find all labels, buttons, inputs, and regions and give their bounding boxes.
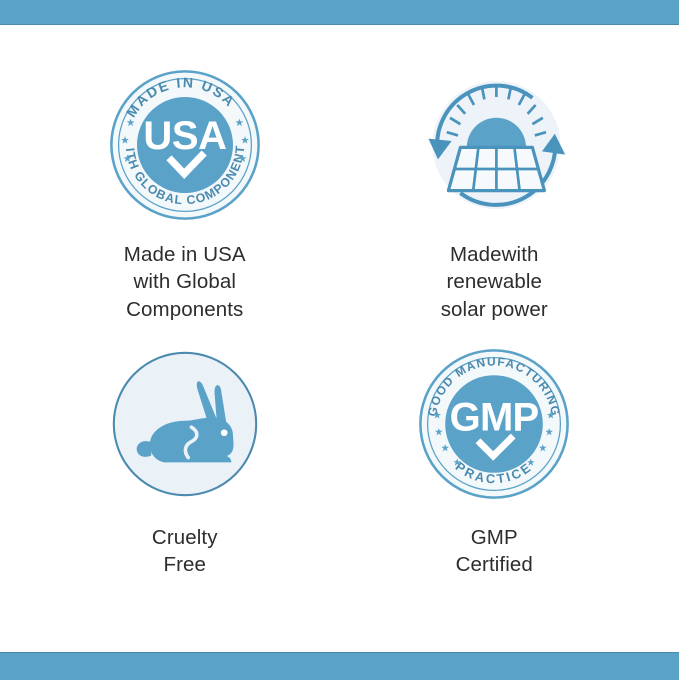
solar-panel-grid-icon xyxy=(449,147,545,190)
badge-caption: Cruelty Free xyxy=(152,524,218,579)
solar-panel-renewable-icon xyxy=(414,65,574,225)
badge-caption: Made in USA with Global Components xyxy=(124,241,246,323)
badge-center-text: USA xyxy=(143,114,226,158)
badge-card-cruelty-free: Cruelty Free xyxy=(30,344,340,623)
trust-badge-grid: MADE IN USA WITH GLOBAL COMPONENTS USA M… xyxy=(0,25,679,652)
top-accent-bar xyxy=(0,0,679,25)
badge-card-solar-power: Madewith renewable solar power xyxy=(340,65,650,344)
badge-center-text: GMP xyxy=(450,395,539,439)
bottom-accent-bar xyxy=(0,652,679,680)
badge-card-made-in-usa: MADE IN USA WITH GLOBAL COMPONENTS USA M… xyxy=(30,65,340,344)
rabbit-cruelty-free-icon xyxy=(105,344,265,504)
made-in-usa-seal-icon: MADE IN USA WITH GLOBAL COMPONENTS USA xyxy=(105,65,265,225)
badge-caption: Madewith renewable solar power xyxy=(441,241,548,323)
gmp-seal-icon: GOOD MANUFACTURING PRACTICE GMP xyxy=(414,344,574,504)
badge-caption: GMP Certified xyxy=(456,524,533,579)
badge-card-gmp-certified: GOOD MANUFACTURING PRACTICE GMP GMP Cert… xyxy=(340,344,650,623)
